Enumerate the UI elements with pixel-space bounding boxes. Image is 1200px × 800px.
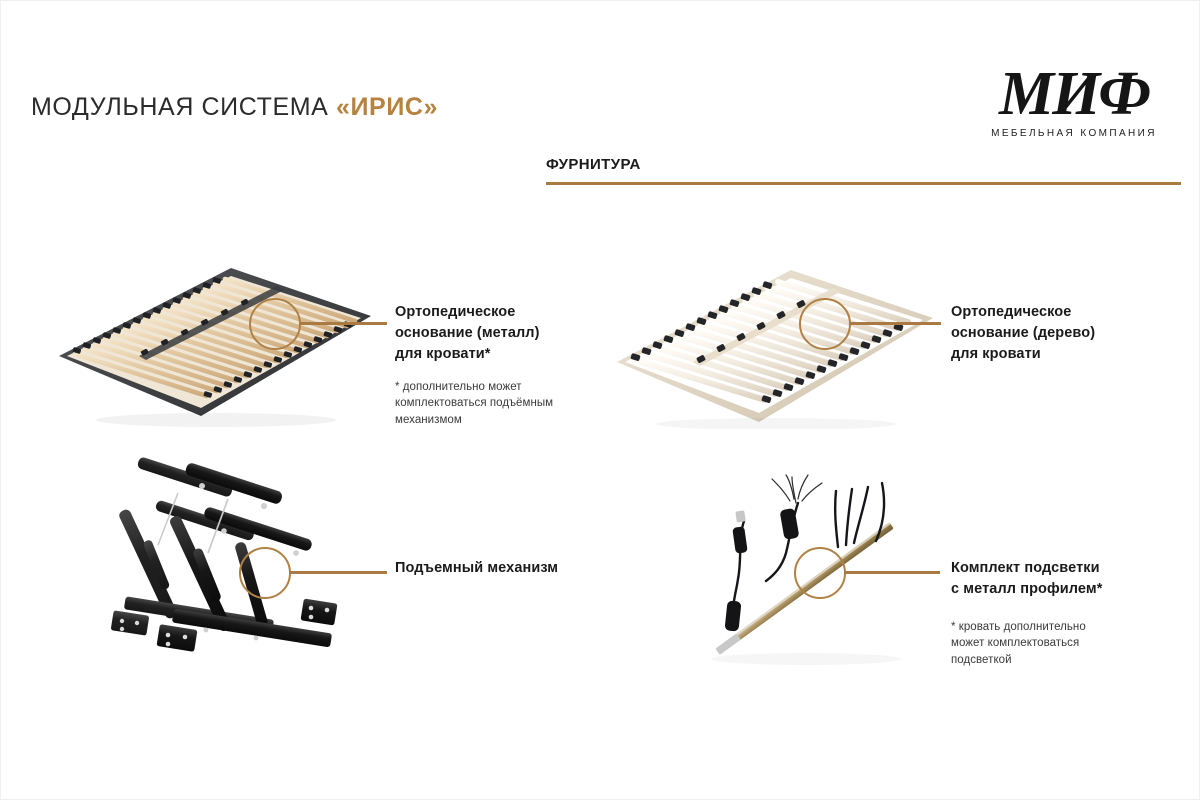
note-line: механизмом [395, 412, 595, 428]
callout-leader-line [844, 571, 940, 574]
callout-circle-icon [249, 298, 301, 350]
note-line: * дополнительно может [395, 379, 595, 395]
label-line: для кровати [951, 344, 1141, 365]
brand-logo-tagline: МЕБЕЛЬНАЯ КОМПАНИЯ [974, 128, 1174, 139]
page-title: МОДУЛЬНАЯ СИСТЕМА «ИРИС» [31, 93, 438, 122]
label-line: основание (дерево) [951, 323, 1141, 344]
callout-circle-icon [799, 298, 851, 350]
item-note-light-kit: * кровать дополнительно может комплектов… [951, 619, 1161, 668]
item-label-wood-base: Ортопедическое основание (дерево) для кр… [951, 302, 1141, 365]
page-title-accent: «ИРИС» [336, 93, 438, 121]
callout-leader-line [849, 322, 941, 325]
note-line: * кровать дополнительно [951, 619, 1161, 635]
brand-logo: МИФ МЕБЕЛЬНАЯ КОМПАНИЯ [974, 63, 1174, 139]
item-note-metal-base: * дополнительно может комплектоваться по… [395, 379, 595, 428]
photo-metal-base [41, 244, 386, 429]
note-line: подсветкой [951, 652, 1161, 668]
label-line: с металл профилем* [951, 579, 1151, 600]
callout-leader-line [289, 571, 387, 574]
label-line: Ортопедическое [395, 302, 575, 323]
callout-circle-icon [239, 547, 291, 599]
page-title-plain: МОДУЛЬНАЯ СИСТЕМА [31, 93, 336, 121]
item-label-metal-base: Ортопедическое основание (металл) для кр… [395, 302, 575, 365]
item-label-lift-mechanism: Подъемный механизм [395, 558, 615, 579]
label-line: Подъемный механизм [395, 558, 615, 579]
callout-circle-icon [794, 547, 846, 599]
note-line: комплектоваться подъёмным [395, 395, 595, 411]
photo-wood-base [601, 244, 946, 429]
label-line: Ортопедическое [951, 302, 1141, 323]
slide-canvas: МОДУЛЬНАЯ СИСТЕМА «ИРИС» МИФ МЕБЕЛЬНАЯ К… [0, 0, 1200, 800]
section-divider [546, 182, 1181, 185]
brand-logo-mark: МИФ [974, 63, 1174, 125]
note-line: может комплектоваться [951, 635, 1161, 651]
callout-leader-line [299, 322, 387, 325]
label-line: для кровати* [395, 344, 575, 365]
label-line: основание (металл) [395, 323, 575, 344]
section-title: ФУРНИТУРА [546, 156, 641, 173]
item-label-light-kit: Комплект подсветки с металл профилем* [951, 558, 1151, 600]
label-line: Комплект подсветки [951, 558, 1151, 579]
